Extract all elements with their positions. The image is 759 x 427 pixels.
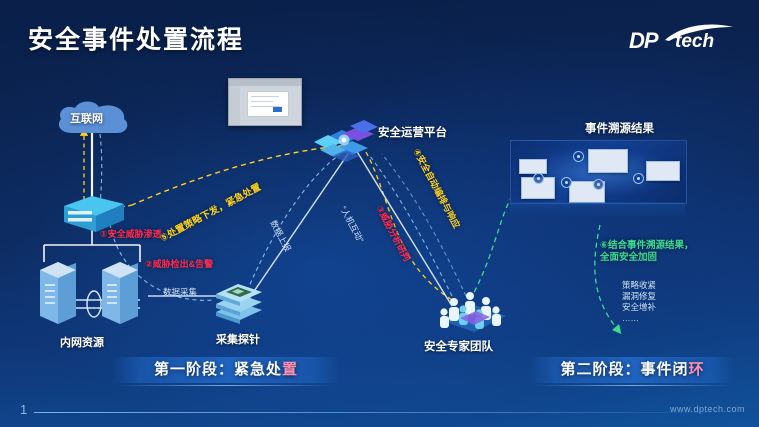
map-pin-icon (593, 179, 604, 190)
hardening-action-item: 安全增补 (622, 302, 656, 313)
screenshot-titlebar (229, 79, 301, 86)
stage-1-highlight: 置 (282, 361, 298, 378)
node-label-internet: 互联网 (70, 110, 103, 126)
map-pin-icon (561, 177, 572, 188)
slide-canvas: 安全事件处置流程 DP tech (0, 0, 759, 427)
footer-website: www.dptech.com (670, 404, 745, 414)
step-3-text: 威胁分析研判 (378, 211, 412, 263)
panel-mini-card (519, 159, 547, 174)
step-5-annotation: ⑤处置策略下发，紧急处置 (157, 179, 263, 244)
step-3-annotation: ③威胁分析研判 (374, 203, 414, 264)
panel-mini-card (646, 161, 680, 181)
step-1-text: 安全威胁渗透 (108, 229, 162, 239)
dptech-logo: DP tech (623, 22, 741, 56)
step-4-annotation: ④安全自动编排与响应 (411, 146, 464, 230)
step-4-text: 安全自动编排与响应 (415, 154, 462, 230)
node-label-intranet: 内网资源 (60, 334, 104, 350)
map-pin-icon (633, 173, 644, 184)
hardening-actions-list: 策略收紧 漏洞修复 安全增补 …… (622, 280, 656, 324)
hardening-action-item: 策略收紧 (622, 280, 656, 291)
stage-2-label: 第二阶段：事件闭 (560, 361, 688, 378)
map-pin-icon (533, 173, 544, 184)
step-6-text-line2: 全面安全加固 (600, 252, 694, 264)
event-trace-panel (510, 140, 687, 204)
stage-2-highlight: 环 (689, 361, 705, 378)
platform-dashboard-screenshot (228, 78, 302, 126)
map-pin-icon (573, 151, 584, 162)
page-title: 安全事件处置流程 (28, 20, 244, 56)
step-2-number: ② (145, 259, 153, 269)
security-platform-icon (312, 118, 382, 166)
edge-label-data-upload: 数据上报 (267, 218, 294, 254)
step-2-text: 威胁检出&告警 (153, 259, 214, 269)
logo-text-dp: DP (629, 28, 658, 54)
screenshot-dialog (247, 91, 289, 117)
step-6-number: ⑥ (600, 240, 608, 251)
step-1-annotation: ①安全威胁渗透 (100, 227, 162, 240)
footer-divider (34, 412, 724, 413)
step-6-text: 结合事件溯源结果， (608, 240, 694, 251)
stage-1-label: 第一阶段：紧急处 (154, 361, 282, 378)
edge-label-human-machine: “人机互动” (337, 204, 366, 245)
logo-text-tech: tech (675, 31, 714, 53)
stage-1-underline (118, 385, 334, 386)
step-6-annotation: ⑥结合事件溯源结果， 全面安全加固 (600, 240, 694, 264)
intranet-servers-icon (36, 258, 156, 330)
screenshot-dialog-button (273, 107, 282, 112)
stage-banner-2: 第二阶段：事件闭环 (530, 357, 735, 383)
hardening-action-item: 漏洞修复 (622, 291, 656, 302)
node-label-probe: 采集探针 (216, 331, 260, 347)
node-label-platform: 安全运营平台 (378, 124, 447, 140)
hardening-action-item: …… (622, 313, 656, 324)
stage-2-underline (536, 385, 730, 386)
panel-reflection (510, 202, 685, 218)
step-5-text: 处置策略下发，紧急处置 (166, 182, 263, 241)
probe-stack-icon (212, 278, 270, 326)
edge-label-data-collect: 数据采集 (163, 286, 197, 298)
node-label-trace: 事件溯源结果 (585, 120, 654, 136)
stage-banner-1: 第一阶段：紧急处置 (112, 357, 340, 383)
step-1-number: ① (100, 229, 108, 239)
node-label-experts: 安全专家团队 (424, 338, 493, 354)
page-number: 1 (20, 402, 27, 417)
expert-team-icon (430, 286, 516, 336)
panel-mini-card (588, 149, 628, 173)
screenshot-sidebar (229, 86, 240, 125)
step-2-annotation: ②威胁检出&告警 (145, 257, 213, 270)
